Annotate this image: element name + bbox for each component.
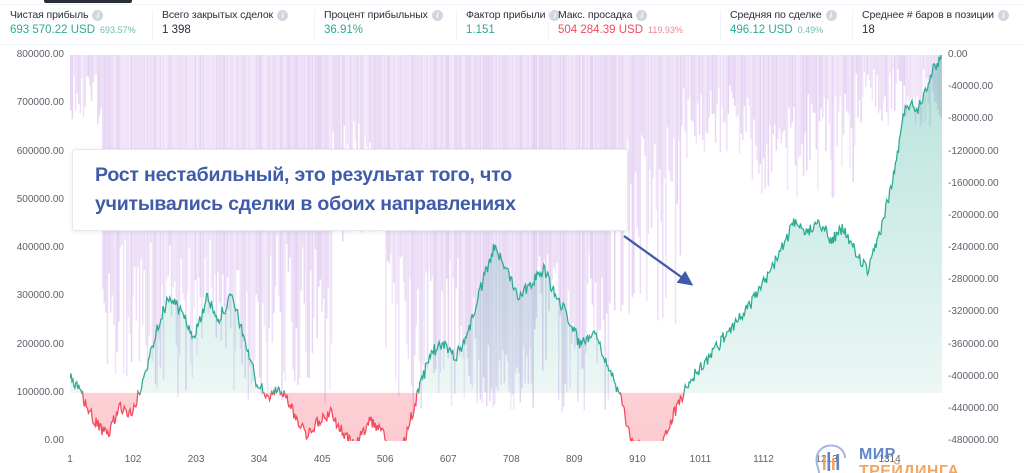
y-axis-left-tick: 800000.00 xyxy=(17,50,64,60)
metric-label: Средняя по сделке xyxy=(730,9,822,21)
x-axis-tick: 405 xyxy=(314,454,331,465)
metric-subvalue: 0.49% xyxy=(798,25,824,35)
metric-value: 693 570.22 USD xyxy=(10,24,95,36)
y-axis-right-tick: -160000.00 xyxy=(948,179,999,189)
metric-subvalue: 119.93% xyxy=(648,25,683,35)
metric-value: 36.91% xyxy=(324,24,363,36)
y-axis-right-tick: -200000.00 xyxy=(948,211,999,221)
callout-arrow-icon xyxy=(600,216,730,316)
x-axis-tick: 304 xyxy=(251,454,268,465)
y-axis-right-tick: -40000.00 xyxy=(948,82,993,92)
y-axis-left-tick: 600000.00 xyxy=(17,147,64,157)
y-axis-right-tick: -320000.00 xyxy=(948,307,999,317)
y-axis-left-tick: 400000.00 xyxy=(17,243,64,253)
metric-value-row: 1.151 xyxy=(466,24,538,36)
x-axis-tick: 607 xyxy=(440,454,457,465)
y-axis-right-tick: 0.00 xyxy=(948,50,967,60)
strategy-tester-performance-report: Чистая прибыль i 693 570.22 USD 693.57% … xyxy=(0,0,1024,473)
y-axis-left-tick: 200000.00 xyxy=(17,340,64,350)
y-axis-right-tick: -240000.00 xyxy=(948,243,999,253)
metric-value: 18 xyxy=(862,24,875,36)
head-candles-logo-icon xyxy=(812,444,852,473)
metric-value: 1 398 xyxy=(162,24,191,36)
info-icon[interactable]: i xyxy=(998,10,1009,21)
x-axis-tick: 102 xyxy=(125,454,142,465)
metric-total-closed-trades: Всего закрытых сделок i 1 398 xyxy=(152,5,314,45)
metric-subvalue: 693.57% xyxy=(100,25,136,35)
x-axis-tick: 1 xyxy=(67,454,73,465)
x-axis-tick: 1112 xyxy=(753,454,774,465)
metric-label-row: Средняя по сделке i xyxy=(730,9,842,21)
metric-label: Макс. просадка xyxy=(558,9,632,21)
metric-value: 496.12 USD xyxy=(730,24,793,36)
metric-value-row: 693 570.22 USD 693.57% xyxy=(10,24,142,36)
metric-net-profit: Чистая прибыль i 693 570.22 USD 693.57% xyxy=(0,5,152,45)
metric-label-row: Всего закрытых сделок i xyxy=(162,9,304,21)
x-axis-tick: 910 xyxy=(629,454,646,465)
y-axis-left-tick: 0.00 xyxy=(45,436,64,446)
info-icon[interactable]: i xyxy=(826,10,837,21)
metric-label: Всего закрытых сделок xyxy=(162,9,273,21)
metric-percent-profitable: Процент прибыльных i 36.91% xyxy=(314,5,456,45)
y-axis-right-tick: -440000.00 xyxy=(948,404,999,414)
metric-value-row: 18 xyxy=(862,24,1014,36)
metric-label-row: Чистая прибыль i xyxy=(10,9,142,21)
metric-avg-trade: Средняя по сделке i 496.12 USD 0.49% xyxy=(720,5,852,45)
x-axis-tick: 708 xyxy=(503,454,520,465)
x-axis-tick: 809 xyxy=(566,454,583,465)
metric-value-row: 1 398 xyxy=(162,24,304,36)
x-axis-tick: 1011 xyxy=(690,454,712,465)
metric-value: 1.151 xyxy=(466,24,495,36)
info-icon[interactable]: i xyxy=(277,10,288,21)
metric-value-row: 496.12 USD 0.49% xyxy=(730,24,842,36)
info-icon[interactable]: i xyxy=(432,10,443,21)
plot-svg xyxy=(70,55,942,441)
y-axis-left-equity: 800000.00700000.00600000.00500000.004000… xyxy=(0,55,64,441)
annotation-line-1: Рост нестабильный, это результат того, ч… xyxy=(95,161,605,190)
y-axis-left-tick: 100000.00 xyxy=(17,388,64,398)
y-axis-right-tick: -280000.00 xyxy=(948,275,999,285)
annotation-callout: Рост нестабильный, это результат того, ч… xyxy=(72,149,628,231)
metric-label-row: Фактор прибыли i xyxy=(466,9,538,21)
annotation-line-2: учитывались сделки в обоих направлениях xyxy=(95,190,605,219)
plot-area[interactable] xyxy=(70,55,942,441)
metric-label: Чистая прибыль xyxy=(10,9,88,21)
y-axis-left-tick: 300000.00 xyxy=(17,291,64,301)
metric-max-drawdown: Макс. просадка i 504 284.39 USD 119.93% xyxy=(548,5,720,45)
y-axis-right-drawdown: 0.00-40000.00-80000.00-120000.00-160000.… xyxy=(948,55,1024,441)
metrics-bar: Чистая прибыль i 693 570.22 USD 693.57% … xyxy=(0,5,1024,45)
metric-label-row: Макс. просадка i xyxy=(558,9,710,21)
equity-chart[interactable]: 800000.00700000.00600000.00500000.004000… xyxy=(0,46,1024,473)
watermark: МИР ТРЕЙДИНГА xyxy=(812,444,959,473)
watermark-line-2: ТРЕЙДИНГА xyxy=(859,463,959,473)
metric-profit-factor: Фактор прибыли i 1.151 xyxy=(456,5,548,45)
y-axis-left-tick: 500000.00 xyxy=(17,195,64,205)
y-axis-right-tick: -400000.00 xyxy=(948,372,999,382)
y-axis-right-tick: -120000.00 xyxy=(948,147,999,157)
y-axis-left-tick: 700000.00 xyxy=(17,98,64,108)
metric-label: Процент прибыльных xyxy=(324,9,428,21)
x-axis-tick: 506 xyxy=(377,454,394,465)
watermark-line-1: МИР xyxy=(859,446,959,463)
info-icon[interactable]: i xyxy=(92,10,103,21)
watermark-text: МИР ТРЕЙДИНГА xyxy=(859,446,959,473)
y-axis-right-tick: -360000.00 xyxy=(948,340,999,350)
metric-label: Фактор прибыли xyxy=(466,9,545,21)
x-axis-tick: 203 xyxy=(188,454,205,465)
info-icon[interactable]: i xyxy=(636,10,647,21)
metric-label-row: Среднее # баров в позиции i xyxy=(862,9,1014,21)
metric-label: Среднее # баров в позиции xyxy=(862,9,994,21)
metric-value-row: 36.91% xyxy=(324,24,446,36)
metric-value-row: 504 284.39 USD 119.93% xyxy=(558,24,710,36)
tab-active-indicator[interactable] xyxy=(44,0,132,3)
metric-avg-bars-in-trade: Среднее # баров в позиции i 18 xyxy=(852,5,1024,45)
metric-label-row: Процент прибыльных i xyxy=(324,9,446,21)
metric-value: 504 284.39 USD xyxy=(558,24,643,36)
y-axis-right-tick: -80000.00 xyxy=(948,114,993,124)
